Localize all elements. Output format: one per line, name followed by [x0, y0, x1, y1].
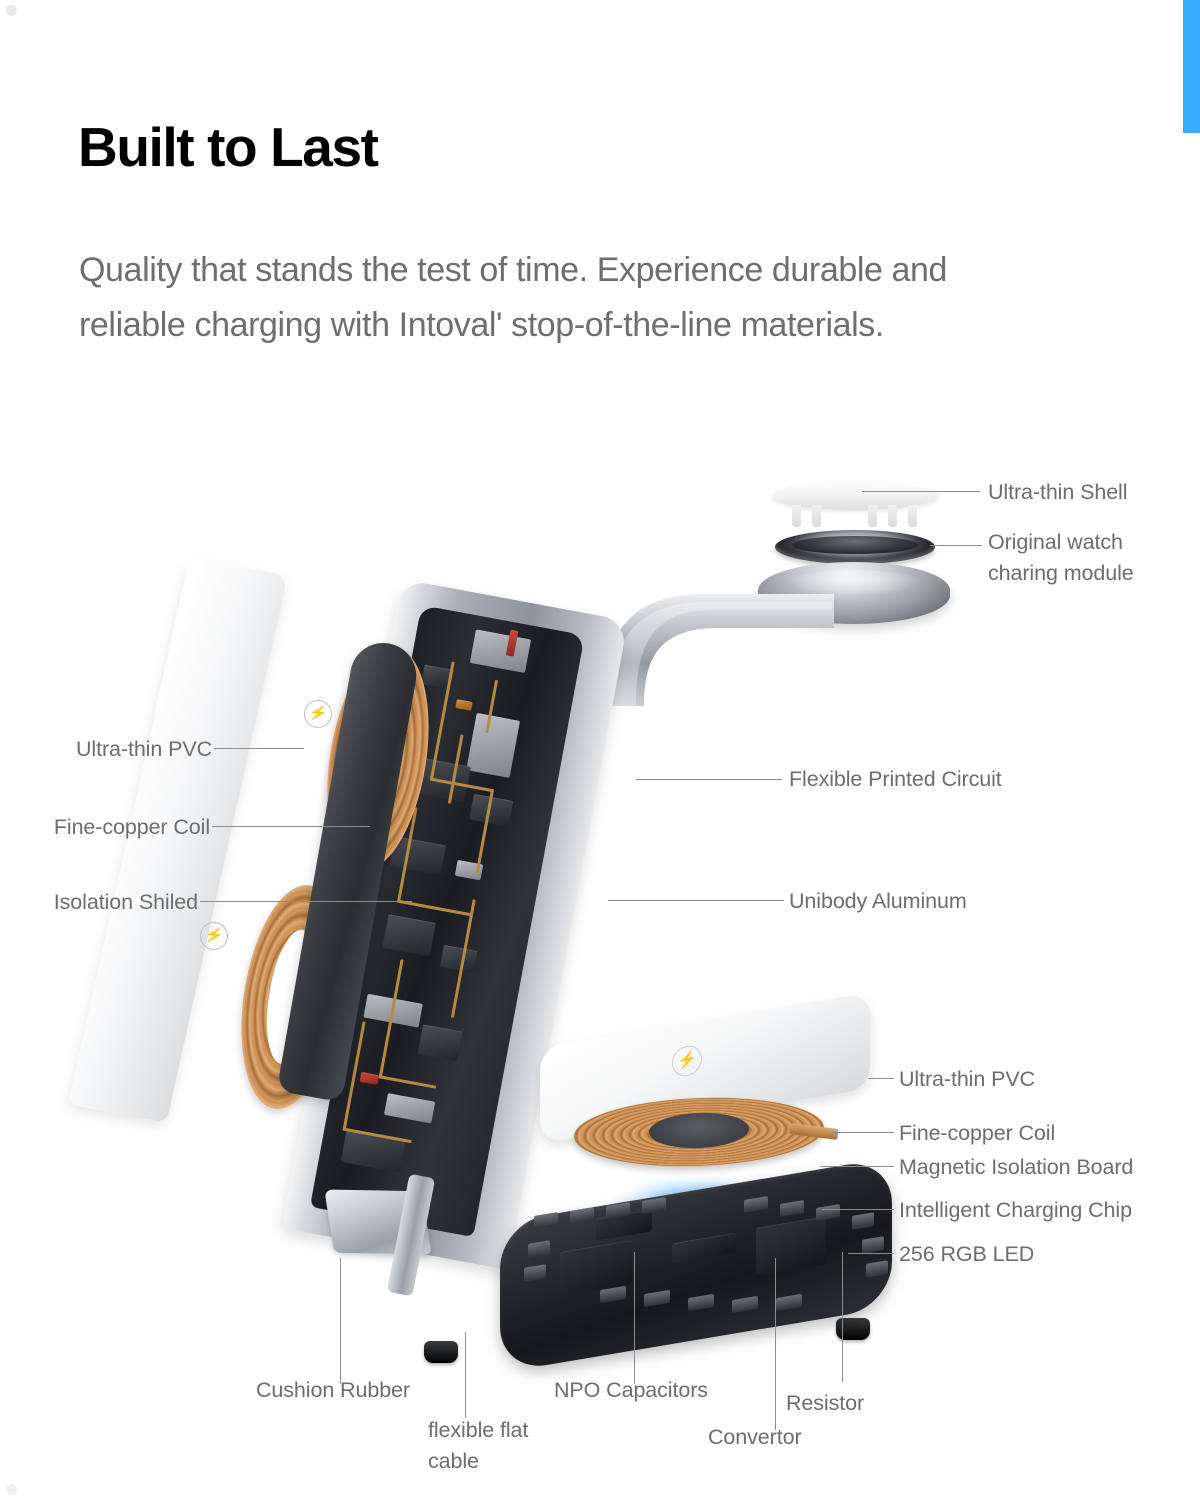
callout-convertor: Convertor	[708, 1422, 802, 1453]
leader-line	[200, 901, 412, 902]
callout-flexible-flat-cable: flexible flat cable	[428, 1415, 528, 1477]
leader-line	[212, 826, 370, 827]
callout-ultra-thin-shell: Ultra-thin Shell	[988, 477, 1127, 508]
charging-symbol-icon	[302, 698, 335, 731]
copper-spiral	[574, 1094, 824, 1171]
leader-line	[862, 491, 980, 492]
shell-peg	[792, 505, 801, 527]
leader-line	[848, 1253, 894, 1254]
callout-256-rgb-led: 256 RGB LED	[899, 1239, 1034, 1270]
leader-line	[820, 1166, 894, 1167]
leader-line	[465, 1332, 466, 1418]
base-circuit-board	[500, 1157, 892, 1373]
leader-line	[930, 545, 982, 546]
callout-isolation-shield: Isolation Shiled	[0, 887, 198, 918]
callout-npo-capacitors: NPO Capacitors	[554, 1375, 708, 1406]
callout-original-watch-module: Original watch charing module	[988, 527, 1134, 589]
callout-unibody-aluminum: Unibody Aluminum	[789, 886, 967, 917]
callout-cushion-rubber: Cushion Rubber	[256, 1375, 410, 1406]
callout-intelligent-charging-chip: Intelligent Charging Chip	[899, 1195, 1132, 1226]
fine-copper-coil-base-part	[574, 1098, 824, 1166]
callout-fine-copper-coil-panel: Fine-copper Coil	[0, 812, 210, 843]
callout-ultra-thin-pvc-panel: Ultra-thin PVC	[0, 734, 212, 765]
leader-line	[822, 1209, 894, 1210]
callout-magnetic-isolation-board: Magnetic Isolation Board	[899, 1152, 1133, 1183]
callout-ultra-thin-pvc-base: Ultra-thin PVC	[899, 1064, 1035, 1095]
callout-flexible-printed-circuit: Flexible Printed Circuit	[789, 764, 1002, 795]
leader-line	[842, 1252, 843, 1382]
leader-line	[868, 1078, 894, 1079]
arm-shape-icon	[596, 588, 836, 708]
shell-peg	[908, 505, 917, 527]
callout-fine-copper-coil-base: Fine-copper Coil	[899, 1118, 1055, 1149]
shell-peg	[812, 505, 821, 527]
leader-line	[634, 1252, 635, 1384]
leader-line	[832, 1132, 894, 1133]
callout-resistor: Resistor	[786, 1388, 864, 1419]
unibody-aluminum-arm	[596, 588, 836, 708]
leader-line	[340, 1258, 341, 1384]
shell-peg	[868, 505, 877, 527]
infographic-page: Built to Last Quality that stands the te…	[0, 0, 1200, 1500]
shell-peg	[888, 505, 897, 527]
original-watch-charging-module-part	[775, 530, 935, 564]
leader-line	[775, 1258, 776, 1430]
cushion-rubber-foot	[424, 1341, 458, 1363]
leader-line	[214, 748, 304, 749]
leader-line	[636, 779, 782, 780]
leader-line	[608, 900, 784, 901]
